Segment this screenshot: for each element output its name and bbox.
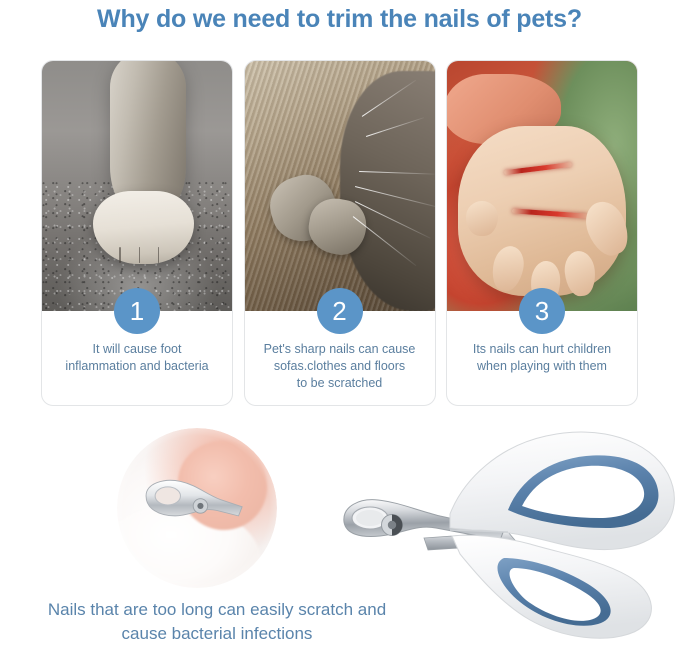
reason-card-2-badge: 2 (317, 288, 363, 334)
reason-card-1-caption: It will cause foot inflammation and bact… (42, 341, 232, 375)
bottom-caption: Nails that are too long can easily scrat… (0, 598, 434, 646)
bottom-caption-line: cause bacterial infections (0, 622, 434, 646)
reasons-card-row: 1 It will cause foot inflammation and ba… (41, 60, 638, 406)
reason-card-1: 1 It will cause foot inflammation and ba… (41, 60, 233, 406)
reason-card-3-badge: 3 (519, 288, 565, 334)
page-title: Why do we need to trim the nails of pets… (0, 2, 679, 36)
reason-card-1-badge: 1 (114, 288, 160, 334)
reason-card-1-photo (42, 61, 232, 311)
caption-line: inflammation and bacteria (51, 358, 223, 375)
finger-shape (466, 201, 498, 236)
toe-gap (158, 247, 160, 263)
reason-card-2-caption: Pet's sharp nails can cause sofas.clothe… (245, 341, 435, 392)
toe-gap (139, 247, 141, 263)
caption-line: Its nails can hurt children (456, 341, 628, 358)
reason-card-3-photo (447, 61, 637, 311)
reason-card-3-caption: Its nails can hurt children when playing… (447, 341, 637, 375)
reason-card-2: 2 Pet's sharp nails can cause sofas.clot… (244, 60, 436, 406)
cat-scratching-sofa-image (245, 61, 435, 311)
bottom-caption-line: Nails that are too long can easily scrat… (0, 598, 434, 622)
reason-card-3: 3 Its nails can hurt children when playi… (446, 60, 638, 406)
clipper-on-cat-paw-photo (117, 428, 277, 588)
caption-line: to be scratched (254, 375, 426, 392)
lower-handle (452, 535, 651, 638)
caption-line: sofas.clothes and floors (254, 358, 426, 375)
caption-line: It will cause foot (51, 341, 223, 358)
cat-foot-shape (93, 191, 194, 264)
caption-line: when playing with them (456, 358, 628, 375)
cat-body-shape (340, 71, 435, 311)
reason-card-2-photo (245, 61, 435, 311)
scratched-child-hand-image (447, 61, 637, 311)
toe-gap (119, 247, 121, 263)
mini-clipper-icon (139, 476, 251, 530)
caption-line: Pet's sharp nails can cause (254, 341, 426, 358)
cat-paw-on-carpet-image (42, 61, 232, 311)
